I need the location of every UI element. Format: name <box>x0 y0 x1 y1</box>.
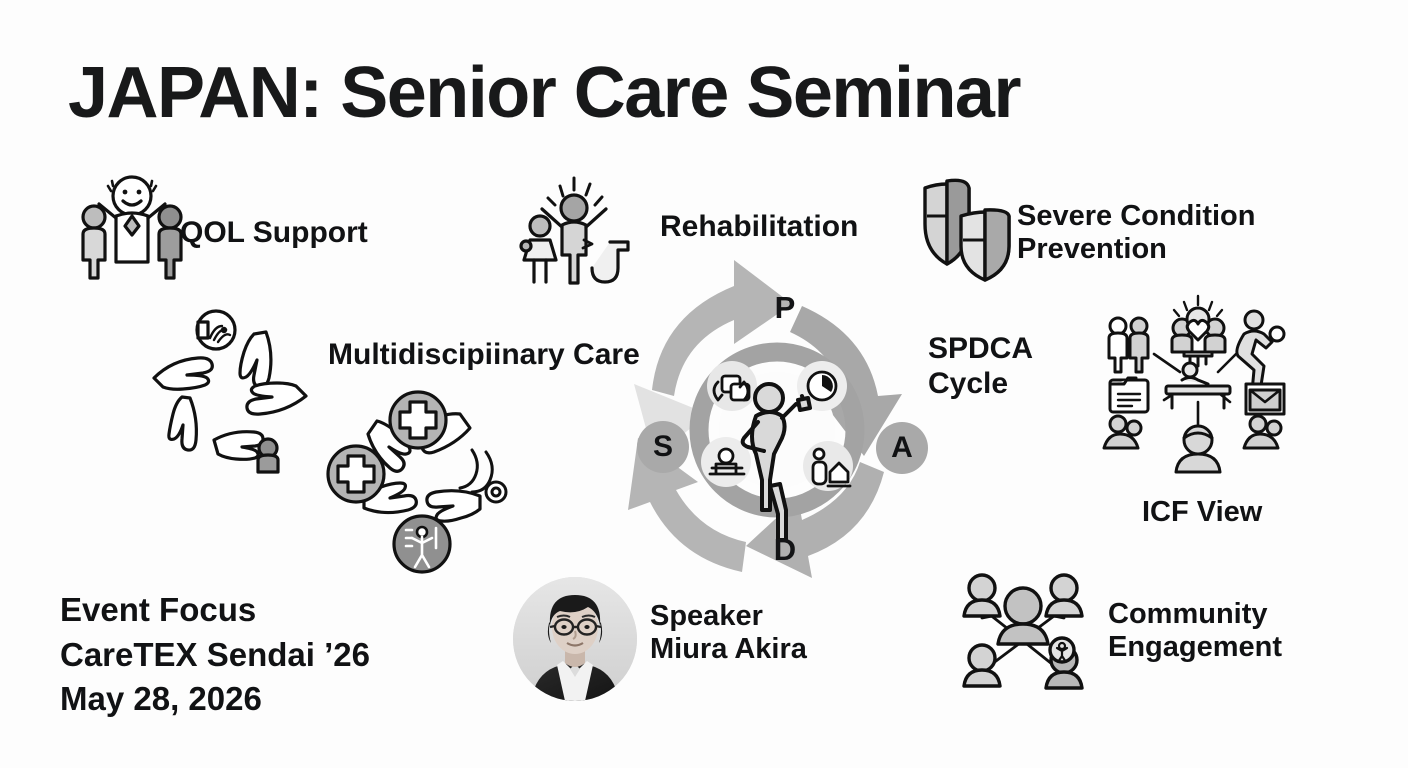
page-title: JAPAN: Senior Care Seminar <box>68 52 1020 134</box>
topic-label-rehabilitation: Rehabilitation <box>660 210 858 245</box>
speaker-caption: Speaker Miura Akira <box>650 600 807 667</box>
topic-label-multidisciplinary-care: Multidiscipiinary Care <box>328 338 640 373</box>
people-network-icon <box>950 562 1100 694</box>
topic-label-spdca-cycle: SPDCA Cycle <box>928 332 1033 401</box>
circle-of-hands-icon <box>140 300 320 470</box>
icf-network-icon <box>1098 292 1293 472</box>
cycle-badge-a: A <box>876 422 928 474</box>
seminar-poster: JAPAN: Senior Care Seminar <box>0 0 1408 768</box>
speaker-portrait-photo <box>513 577 637 701</box>
cycle-badge-s: S <box>637 421 689 473</box>
three-people-happy-icon <box>72 172 192 282</box>
topic-label-icf-view: ICF View <box>1142 496 1262 529</box>
topic-label-qol: QOL Support <box>180 216 368 251</box>
topic-label-community-engagement: Community Engagement <box>1108 598 1282 665</box>
cycle-letter-p: P <box>770 292 800 323</box>
cycle-letter-d: D <box>770 534 800 565</box>
event-focus-block: Event Focus CareTEX Sendai ’26 May 28, 2… <box>60 588 370 722</box>
topic-label-severe-condition-prevention: Severe Condition Prevention <box>1017 200 1256 267</box>
medical-hands-circle-icon <box>322 388 518 578</box>
